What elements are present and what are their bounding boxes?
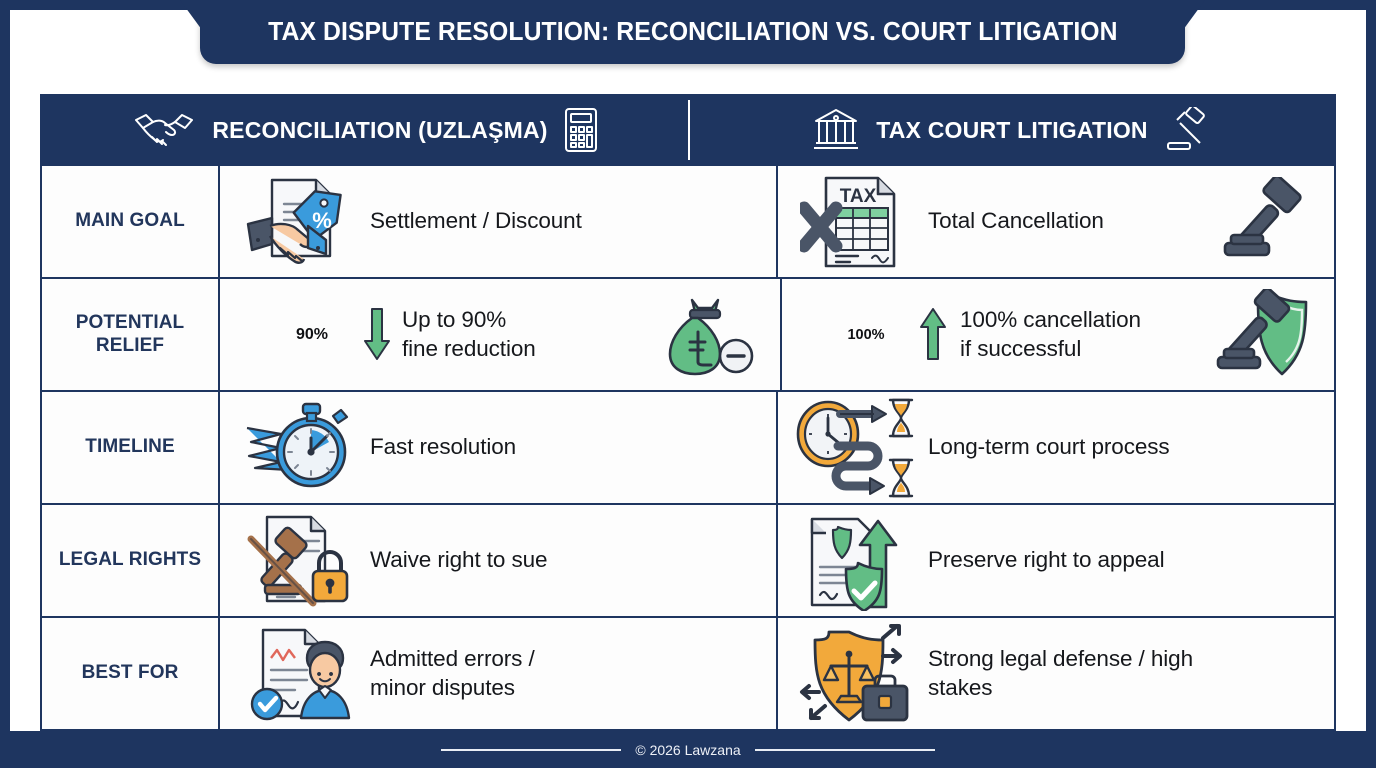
cell-text: Preserve right to appeal	[928, 546, 1322, 575]
gavel-shield-icon	[1212, 289, 1322, 381]
cell-reconciliation-legal-rights: Waive right to sue	[218, 505, 776, 616]
gavel-crossed-lock-icon	[234, 511, 366, 611]
cell-text: 100% cancellation if successful	[960, 306, 1200, 363]
svg-text:TAX: TAX	[840, 186, 877, 207]
row-label: BEST FOR	[82, 662, 179, 684]
cell-reconciliation-potential-relief: 90% Up to 90% fine reduction	[218, 279, 780, 390]
column-header-reconciliation: RECONCILIATION (UZLAŞMA)	[42, 96, 688, 164]
cell-reconciliation-timeline: Fast resolution	[218, 392, 776, 503]
courthouse-icon	[812, 106, 860, 154]
column-header-litigation: TAX COURT LITIGATION	[688, 96, 1334, 164]
page-title: TAX DISPUTE RESOLUTION: RECONCILIATION V…	[268, 18, 1117, 47]
money-bag-decrease-icon	[658, 292, 768, 378]
fast-stopwatch-icon	[234, 398, 366, 498]
cell-text: Fast resolution	[370, 433, 764, 462]
footer-copyright: © 2026 Lawzana	[635, 742, 740, 758]
cell-text: Admitted errors / minor disputes	[370, 645, 764, 702]
gavel-icon	[1212, 177, 1322, 267]
calculator-icon	[564, 107, 598, 153]
cell-text: Waive right to sue	[370, 546, 764, 575]
arrow-down-icon	[362, 307, 392, 363]
row-label: LEGAL RIGHTS	[59, 549, 201, 571]
footer: © 2026 Lawzana	[0, 731, 1376, 768]
svg-text:%: %	[312, 208, 332, 233]
clock-hourglass-process-icon	[792, 396, 924, 500]
infographic-page: TAX DISPUTE RESOLUTION: RECONCILIATION V…	[0, 0, 1376, 768]
column-header-label: RECONCILIATION (UZLAŞMA)	[212, 117, 547, 144]
donut-value: 100%	[847, 327, 884, 343]
column-header-label: TAX COURT LITIGATION	[876, 117, 1147, 144]
row-label: MAIN GOAL	[75, 210, 185, 232]
cell-text: Up to 90% fine reduction	[402, 306, 648, 363]
row-label-cell: MAIN GOAL	[42, 166, 218, 277]
row-label-cell: TIMELINE	[42, 392, 218, 503]
footer-rule-right	[755, 749, 935, 751]
table-row: LEGAL RIGHTS	[42, 503, 1334, 616]
table-header-row: RECONCILIATION (UZLAŞMA)	[42, 96, 1334, 164]
cell-text: Strong legal defense / high stakes	[928, 645, 1322, 702]
cell-reconciliation-best-for: Admitted errors / minor disputes	[218, 618, 776, 729]
shield-scales-briefcase-icon	[792, 622, 924, 726]
cell-text: Long-term court process	[928, 433, 1322, 462]
table-row: BEST FOR	[42, 616, 1334, 729]
cell-litigation-main-goal: TAX Total Cancellation	[776, 166, 1334, 277]
row-label-cell: BEST FOR	[42, 618, 218, 729]
tax-document-cancelled-icon: TAX	[792, 170, 924, 274]
table-row: MAIN GOAL %	[42, 164, 1334, 277]
donut-value: 90%	[296, 326, 328, 344]
cell-litigation-best-for: Strong legal defense / high stakes	[776, 618, 1334, 729]
title-banner: TAX DISPUTE RESOLUTION: RECONCILIATION V…	[200, 0, 1185, 64]
relief-donut-90: 90%	[272, 295, 352, 375]
row-label-cell: POTENTIAL RELIEF	[42, 279, 218, 390]
arrow-up-icon	[918, 307, 948, 363]
row-label: POTENTIAL RELIEF	[48, 312, 212, 357]
footer-rule-left	[441, 749, 621, 751]
gavel-icon	[1164, 107, 1210, 153]
table-row: POTENTIAL RELIEF 90% Up to 90% fine redu…	[42, 277, 1334, 390]
cell-litigation-timeline: Long-term court process	[776, 392, 1334, 503]
cell-reconciliation-main-goal: % Settlement / Discount	[218, 166, 776, 277]
cell-text: Total Cancellation	[928, 207, 1208, 236]
cell-litigation-legal-rights: Preserve right to appeal	[776, 505, 1334, 616]
document-shield-check-arrow-icon	[792, 511, 924, 611]
relief-donut-100: 100%	[826, 295, 906, 375]
handshake-document-discount-icon: %	[234, 170, 366, 274]
handshake-icon	[132, 108, 196, 152]
row-label-cell: LEGAL RIGHTS	[42, 505, 218, 616]
cell-text: Settlement / Discount	[370, 207, 764, 236]
cell-litigation-potential-relief: 100% 100% cancellation if successful	[780, 279, 1334, 390]
table-row: TIMELINE	[42, 390, 1334, 503]
row-label: TIMELINE	[85, 436, 174, 458]
comparison-table: RECONCILIATION (UZLAŞMA)	[40, 94, 1336, 731]
person-verified-document-icon	[234, 624, 366, 724]
